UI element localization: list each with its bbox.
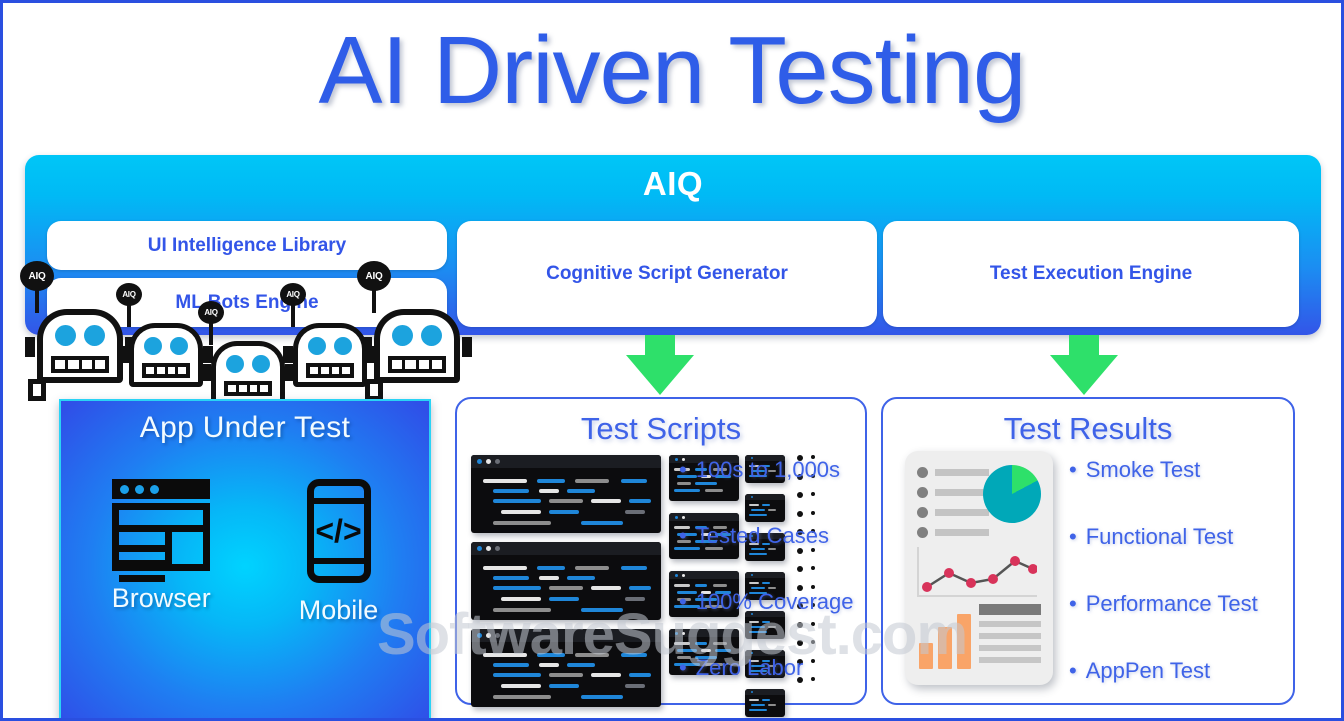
robot-ear-icon: [283, 346, 293, 363]
robot-eye-icon: [170, 337, 188, 355]
bullet-item: Zero Labor: [679, 655, 853, 681]
bullet-item: Performance Test: [1069, 591, 1258, 617]
code-window: [471, 629, 661, 707]
ml-bots-group: AIQ AIQ AIQ: [29, 261, 479, 406]
line-chart: [917, 547, 1037, 597]
robot-mouth-icon: [51, 356, 109, 373]
bullet-item: 100s to 1,000s: [679, 457, 853, 483]
report-text-block: [979, 604, 1041, 669]
robot-neck-icon: [365, 379, 383, 401]
robot-eye-icon: [334, 337, 352, 355]
app-under-test-title: App Under Test: [61, 411, 429, 445]
test-results-title: Test Results: [883, 411, 1293, 447]
robot-ear-icon: [25, 337, 35, 357]
code-window: [471, 542, 661, 620]
bullet-item: 100% Coverage: [679, 589, 853, 615]
robot-neck-icon: [28, 379, 46, 401]
browser-icon: [112, 479, 210, 571]
robot-eye-icon: [84, 325, 105, 346]
mobile-icon: </>: [307, 479, 371, 583]
page-title: AI Driven Testing: [3, 11, 1341, 131]
robot-eye-icon: [421, 325, 442, 346]
robot-head-icon: [293, 323, 367, 387]
card-test-execution-engine[interactable]: Test Execution Engine: [883, 221, 1299, 327]
robot-antenna-icon: [372, 287, 376, 313]
aut-label-browser: Browser: [112, 583, 211, 614]
bar-chart: [919, 609, 971, 669]
robot-head-icon: [374, 309, 460, 383]
code-window-column-large: [471, 455, 671, 716]
test-results-panel: Test Results: [881, 397, 1295, 705]
robot-ear-icon: [362, 337, 372, 357]
app-under-test-panel: App Under Test Browser </> Mobile: [59, 399, 431, 721]
down-arrow-icon-results: [1050, 355, 1118, 395]
robot-ear-icon: [201, 364, 211, 381]
infographic-canvas: AI Driven Testing AIQ UI Intelligence Li…: [0, 0, 1344, 721]
report-list: [917, 467, 989, 547]
robot-mouth-icon: [224, 381, 272, 396]
robot-head-icon: [211, 341, 285, 405]
robot-ear-icon: [119, 346, 129, 363]
report-card-icon: [905, 451, 1053, 685]
robot-antenna-icon: [35, 287, 39, 313]
robot-antenna-icon: [291, 303, 295, 327]
aiq-panel-title: AIQ: [25, 165, 1321, 203]
pie-chart: [983, 465, 1041, 523]
card-cognitive-script-generator[interactable]: Cognitive Script Generator: [457, 221, 877, 327]
bullet-item: Smoke Test: [1069, 457, 1258, 483]
robot-antenna-icon: [127, 303, 131, 327]
robot-head-icon: [129, 323, 203, 387]
robot-mouth-icon: [306, 363, 354, 378]
robot-eye-icon: [226, 355, 244, 373]
test-scripts-bullets: 100s to 1,000s Tested Cases 100% Coverag…: [679, 457, 853, 721]
aut-label-mobile: Mobile: [299, 595, 379, 626]
robot-eye-icon: [392, 325, 413, 346]
robot-ear-icon: [462, 337, 472, 357]
test-scripts-panel: Test Scripts: [455, 397, 867, 705]
robot-eye-icon: [144, 337, 162, 355]
aut-item-mobile[interactable]: </> Mobile: [299, 479, 379, 629]
robot-eye-icon: [252, 355, 270, 373]
aut-item-browser[interactable]: Browser: [112, 479, 211, 629]
bullet-item: Tested Cases: [679, 523, 853, 549]
robot-head-icon: [37, 309, 123, 383]
robot-mouth-icon: [388, 356, 446, 373]
robot-antenna-icon: [209, 321, 213, 345]
test-scripts-title: Test Scripts: [457, 411, 865, 447]
robot-mouth-icon: [142, 363, 190, 378]
code-glyph: </>: [315, 515, 361, 547]
bullet-item: Functional Test: [1069, 524, 1258, 550]
robot-eye-icon: [308, 337, 326, 355]
bullet-item: AppPen Test: [1069, 658, 1258, 684]
down-arrow-icon-scripts: [626, 355, 694, 395]
robot-eye-icon: [55, 325, 76, 346]
test-results-bullets: Smoke Test Functional Test Performance T…: [1069, 457, 1258, 721]
code-window: [471, 455, 661, 533]
